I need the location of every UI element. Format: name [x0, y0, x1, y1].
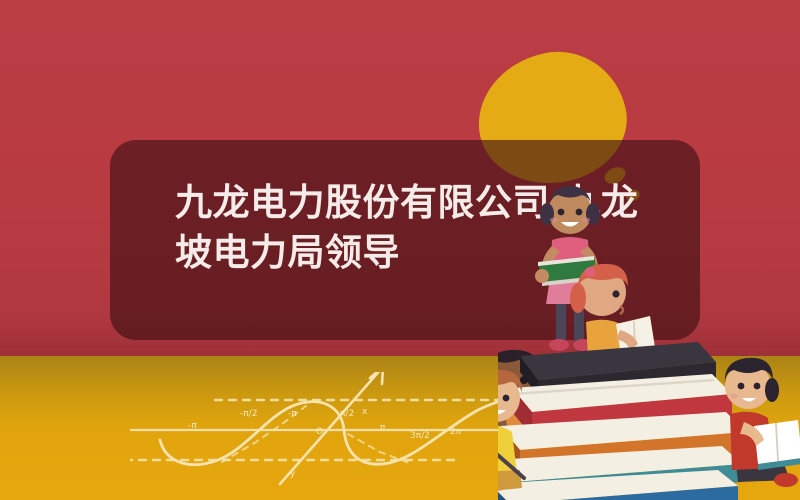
hair-side — [765, 378, 779, 402]
promo-banner: 九龙电力股份有限公司 九龙坡电力局领导 -π -π/2 -π O π/2 — [0, 0, 800, 500]
eye-left — [738, 383, 745, 390]
hair-side — [570, 283, 586, 313]
tick-label: π/2 — [340, 409, 354, 419]
eye-right — [754, 383, 761, 390]
tick-label: -π/2 — [240, 409, 257, 419]
tick-label: x — [362, 407, 368, 417]
tick-label: O — [316, 427, 323, 437]
eye-left — [558, 209, 565, 216]
leg-left — [556, 300, 566, 342]
tick-label: y — [290, 469, 296, 479]
axis-tick-labels: -π -π/2 -π O π/2 π 3π/2 2π y x — [188, 407, 462, 479]
trend-line-arrowhead — [370, 372, 383, 384]
tick-label: 3π/2 — [410, 431, 430, 441]
book-stack — [498, 342, 746, 500]
tick-label: 2π — [450, 427, 462, 437]
hair-clip — [585, 267, 595, 277]
open-book — [754, 420, 800, 470]
tick-label: -π — [188, 421, 197, 431]
blush — [730, 394, 738, 399]
eye — [612, 290, 619, 297]
blush-left — [550, 218, 558, 223]
mouth — [620, 306, 623, 314]
eye-right — [503, 395, 510, 402]
eye-right — [576, 209, 583, 216]
tick-label: π — [380, 423, 386, 433]
shoe-left — [549, 339, 569, 351]
tick-label: -π — [288, 409, 297, 419]
shoe — [774, 473, 798, 487]
trend-line — [280, 372, 382, 484]
sine-wave-chart: -π -π/2 -π O π/2 π 3π/2 2π y x — [130, 372, 540, 487]
blush-right — [582, 218, 590, 223]
hand-left — [535, 269, 549, 283]
children-reading-illustration — [498, 182, 800, 500]
child-sitting-red-shirt — [725, 358, 800, 487]
